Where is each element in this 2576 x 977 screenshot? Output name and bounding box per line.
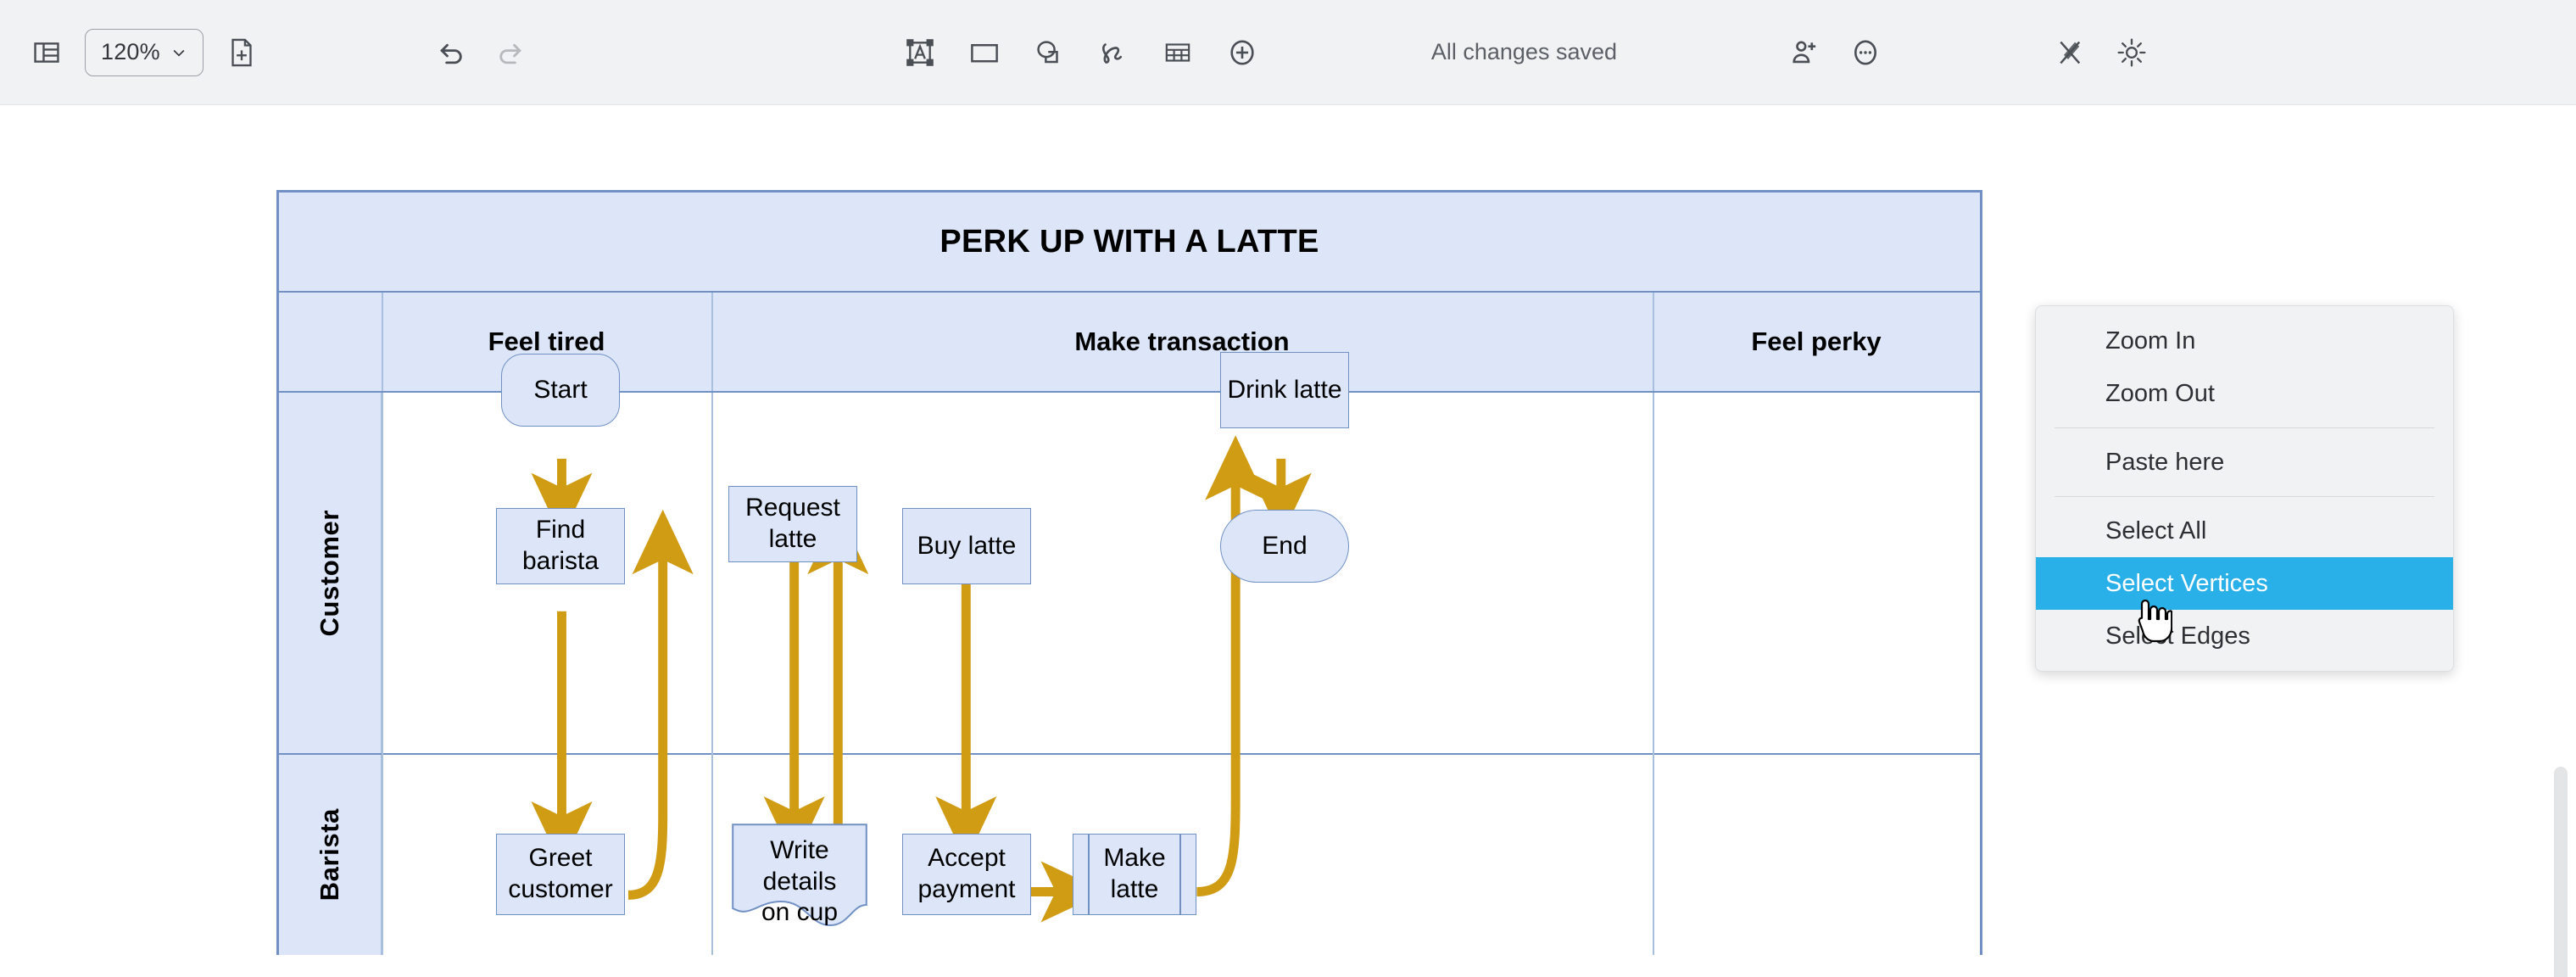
menu-separator bbox=[2055, 427, 2434, 428]
context-menu[interactable]: Zoom In Zoom Out Paste here Select All S… bbox=[2035, 305, 2454, 672]
toolbar-panel-group bbox=[2044, 26, 2158, 79]
more-options-icon[interactable] bbox=[1839, 26, 1892, 79]
toolbar-tools-group bbox=[894, 26, 1268, 79]
share-add-person-icon[interactable] bbox=[1778, 26, 1831, 79]
vertical-scrollbar[interactable] bbox=[2554, 767, 2568, 977]
zoom-level-select[interactable]: 120% bbox=[85, 29, 204, 76]
freehand-tool-icon[interactable] bbox=[1087, 26, 1140, 79]
toggle-sidebar-icon[interactable] bbox=[20, 26, 73, 79]
shape-request-latte-label: Request latte bbox=[745, 493, 840, 555]
shape-greet-customer-label: Greet customer bbox=[508, 843, 612, 905]
redo-icon[interactable] bbox=[483, 26, 536, 79]
phase-feel-perky[interactable]: Feel perky bbox=[1653, 293, 1980, 391]
undo-icon[interactable] bbox=[426, 26, 478, 79]
save-status-text: All changes saved bbox=[1431, 39, 1617, 65]
menu-item-select-all[interactable]: Select All bbox=[2036, 505, 2453, 557]
toolbar-history-group bbox=[426, 26, 536, 79]
theme-brightness-icon[interactable] bbox=[2105, 26, 2158, 79]
rectangle-tool-icon[interactable] bbox=[958, 26, 1011, 79]
shape-write-details-label: Write details on cup bbox=[732, 835, 867, 929]
diagram-title[interactable]: PERK UP WITH A LATTE bbox=[279, 193, 1980, 293]
column-divider bbox=[1653, 393, 1654, 955]
add-more-icon[interactable] bbox=[1216, 26, 1268, 79]
shape-find-barista[interactable]: Find barista bbox=[496, 508, 625, 584]
menu-separator bbox=[2055, 496, 2434, 497]
zoom-level-value: 120% bbox=[101, 39, 160, 65]
shape-write-details-on-cup[interactable]: Write details on cup bbox=[732, 823, 867, 932]
phase-divider bbox=[711, 293, 713, 391]
format-panel-icon[interactable] bbox=[2044, 26, 2097, 79]
phase-divider bbox=[382, 293, 383, 391]
shape-start[interactable]: Start bbox=[501, 354, 620, 427]
swimlane-diagram[interactable]: PERK UP WITH A LATTE Feel tired Make tra… bbox=[276, 190, 1982, 955]
menu-item-paste-here[interactable]: Paste here bbox=[2036, 436, 2453, 488]
shape-buy-latte[interactable]: Buy latte bbox=[902, 508, 1031, 584]
table-tool-icon[interactable] bbox=[1151, 26, 1204, 79]
text-tool-icon[interactable] bbox=[894, 26, 946, 79]
column-divider bbox=[711, 393, 713, 955]
phase-divider bbox=[1653, 293, 1654, 391]
menu-item-zoom-out[interactable]: Zoom Out bbox=[2036, 367, 2453, 420]
shape-make-latte-label: Make latte bbox=[1103, 843, 1165, 905]
menu-item-select-vertices[interactable]: Select Vertices bbox=[2036, 557, 2453, 610]
top-toolbar: 120% bbox=[0, 0, 2576, 105]
shape-accept-payment[interactable]: Accept payment bbox=[902, 834, 1031, 915]
drawing-canvas[interactable]: PERK UP WITH A LATTE Feel tired Make tra… bbox=[0, 105, 2576, 977]
shape-accept-payment-label: Accept payment bbox=[917, 843, 1015, 905]
shape-greet-customer[interactable]: Greet customer bbox=[496, 834, 625, 915]
column-divider bbox=[382, 393, 383, 955]
phase-make-transaction[interactable]: Make transaction bbox=[711, 293, 1653, 391]
save-status: All changes saved bbox=[1431, 39, 1617, 65]
shape-make-latte[interactable]: Make latte bbox=[1073, 834, 1196, 915]
chevron-down-icon bbox=[170, 44, 187, 61]
menu-item-select-edges[interactable]: Select Edges bbox=[2036, 610, 2453, 662]
lane-header-barista[interactable]: Barista bbox=[279, 755, 382, 955]
shape-drink-latte[interactable]: Drink latte bbox=[1220, 352, 1349, 428]
shape-request-latte[interactable]: Request latte bbox=[728, 486, 857, 562]
lane-header-customer[interactable]: Customer bbox=[279, 393, 382, 753]
menu-item-zoom-in[interactable]: Zoom In bbox=[2036, 315, 2453, 367]
shapes-tool-icon[interactable] bbox=[1023, 26, 1075, 79]
toolbar-left-group: 120% bbox=[20, 26, 268, 79]
shape-end[interactable]: End bbox=[1220, 510, 1349, 583]
lane-label-barista: Barista bbox=[315, 808, 345, 901]
new-page-icon[interactable] bbox=[215, 26, 268, 79]
lane-label-customer: Customer bbox=[315, 510, 345, 637]
toolbar-right-group bbox=[1778, 26, 1892, 79]
